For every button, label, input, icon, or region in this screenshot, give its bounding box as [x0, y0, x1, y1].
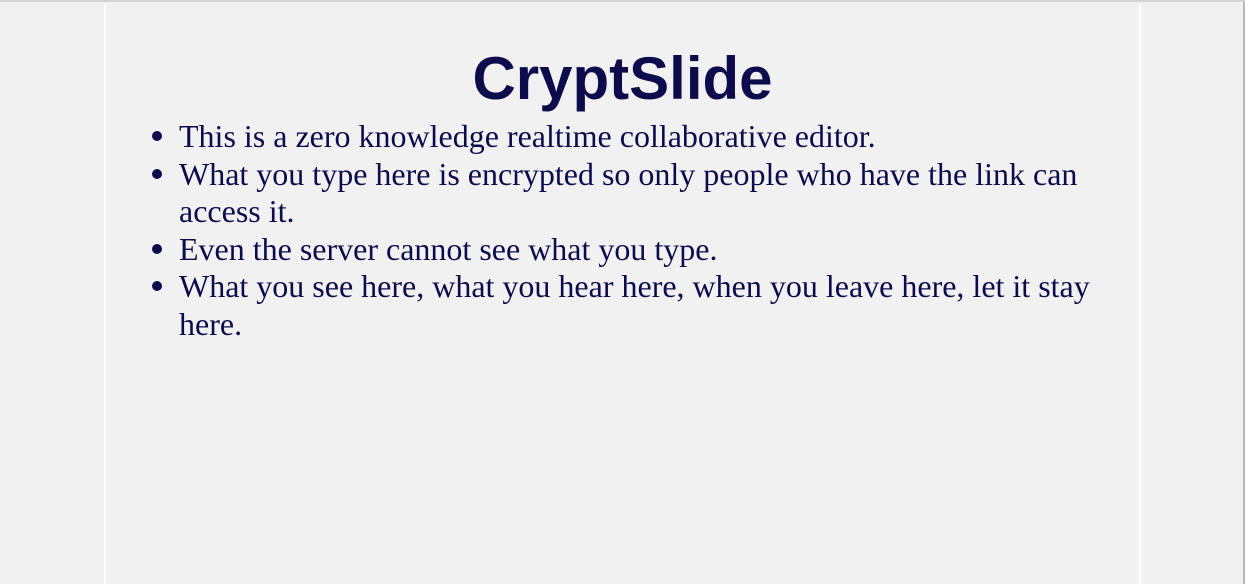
right-gutter — [1141, 4, 1243, 584]
bullet-point-icon — [152, 131, 162, 141]
bullet-text[interactable]: What you see here, what you hear here, w… — [179, 268, 1099, 343]
bullet-text[interactable]: Even the server cannot see what you type… — [179, 231, 1099, 269]
list-item[interactable]: This is a zero knowledge realtime collab… — [106, 118, 1139, 156]
bullet-text[interactable]: What you type here is encrypted so only … — [179, 156, 1099, 231]
left-gutter — [0, 4, 104, 584]
list-item[interactable]: What you see here, what you hear here, w… — [106, 268, 1139, 343]
slide-bullet-list[interactable]: This is a zero knowledge realtime collab… — [106, 118, 1139, 343]
slide-canvas[interactable]: CryptSlide This is a zero knowledge real… — [104, 4, 1141, 584]
bullet-point-icon — [152, 169, 162, 179]
bullet-point-icon — [152, 281, 162, 291]
bullet-text[interactable]: This is a zero knowledge realtime collab… — [179, 118, 1099, 156]
slide-editor-window: CryptSlide This is a zero knowledge real… — [0, 0, 1245, 584]
bullet-point-icon — [152, 244, 162, 254]
list-item[interactable]: Even the server cannot see what you type… — [106, 231, 1139, 269]
list-item[interactable]: What you type here is encrypted so only … — [106, 156, 1139, 231]
slide-title[interactable]: CryptSlide — [106, 42, 1139, 116]
